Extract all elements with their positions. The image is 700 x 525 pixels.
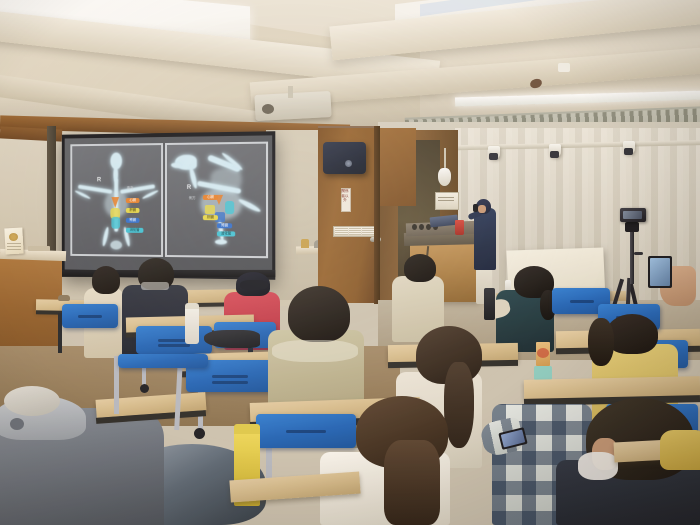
shelf-item (301, 239, 309, 248)
organ-label-liver: 肝臓 (126, 208, 140, 213)
person-hair (92, 266, 120, 294)
person-head-light (4, 386, 60, 416)
desk-caster (140, 384, 149, 393)
track-light (623, 141, 635, 154)
tripod-adjust-knob[interactable] (634, 252, 643, 255)
desk-caster (194, 428, 205, 439)
white-tumbler (185, 306, 199, 344)
notice-plate-text-lines (438, 197, 454, 203)
tripod-column (630, 228, 634, 284)
projector-mount (288, 86, 293, 98)
white-hanging-object (438, 168, 451, 186)
black-thermos (484, 288, 495, 320)
hood-collar (272, 340, 358, 362)
ledge-object (28, 246, 50, 251)
organ-label-liver: 肝臓 (203, 215, 218, 221)
tripod-head (625, 222, 639, 232)
cap-brim (240, 280, 268, 290)
lecture-hall-photo: R 腹背 心臓 肝臓 腎臓 消化管 (0, 0, 700, 525)
red-cup (455, 220, 464, 235)
teal-box (534, 366, 552, 380)
view-label: 側方 (189, 195, 196, 200)
face-mask (578, 452, 618, 480)
person-ponytail (588, 318, 614, 366)
person-hair (404, 254, 436, 282)
light-switch[interactable] (349, 228, 362, 235)
draped-jacket (204, 330, 260, 348)
control-knob[interactable] (412, 224, 417, 230)
wall-speaker (323, 142, 366, 174)
chair[interactable] (136, 326, 212, 354)
upper-wood-cabinet (380, 128, 416, 206)
hanging-cord (444, 148, 446, 170)
control-knob[interactable] (419, 224, 424, 230)
hoodie-toggle (10, 418, 24, 430)
person-hair (288, 286, 350, 342)
person-ponytail (444, 362, 474, 448)
chair[interactable] (256, 414, 356, 448)
speaker-logo-icon (345, 160, 352, 167)
draped-yellow-coat (660, 430, 700, 470)
card-text-lines (7, 243, 21, 252)
organ-label-kidney: 腎臓 (126, 218, 140, 223)
microphone-icon (473, 204, 478, 212)
projector-lens-icon (262, 104, 274, 114)
radiograph-panel-lateral: R 側方 心臓 肝臓 腎臓 消化管 (165, 142, 268, 259)
shirt-collar (141, 282, 169, 290)
smoke-detector-icon (558, 63, 570, 72)
light-switch-plate[interactable] (333, 226, 377, 237)
tumbler-lid (185, 303, 199, 309)
presenter-face (478, 205, 486, 213)
seal-icon (9, 233, 18, 241)
organ-label-heart: 心臓 (126, 198, 140, 203)
chair[interactable] (118, 354, 208, 368)
camera-screen (623, 211, 642, 219)
light-switch[interactable] (335, 228, 348, 235)
desk-object (58, 295, 70, 301)
organ-label-heart: 心臓 (203, 195, 218, 200)
view-label: 腹背 (127, 185, 134, 190)
person-long-hair (384, 440, 440, 525)
phone-screen[interactable] (650, 258, 670, 286)
door-frame (374, 126, 380, 304)
organ-label-gi: 消化管 (126, 228, 144, 233)
door-sign-text: 関係者以外 (341, 189, 349, 209)
snack-box-label (537, 348, 549, 358)
projection-screen: R 腹背 心臓 肝臓 腎臓 消化管 (65, 135, 273, 272)
track-light (488, 146, 500, 159)
bottle-cap (234, 424, 260, 434)
track-light (549, 144, 561, 157)
organ-label-kidney: 腎臓 (217, 223, 232, 229)
orientation-marker-r: R (187, 185, 191, 191)
chair[interactable] (62, 304, 118, 328)
organ-label-gi: 消化管 (217, 231, 235, 237)
radiograph-panel-ventrodorsal: R 腹背 心臓 肝臓 腎臓 消化管 (70, 143, 163, 257)
orientation-marker-r: R (97, 177, 101, 183)
